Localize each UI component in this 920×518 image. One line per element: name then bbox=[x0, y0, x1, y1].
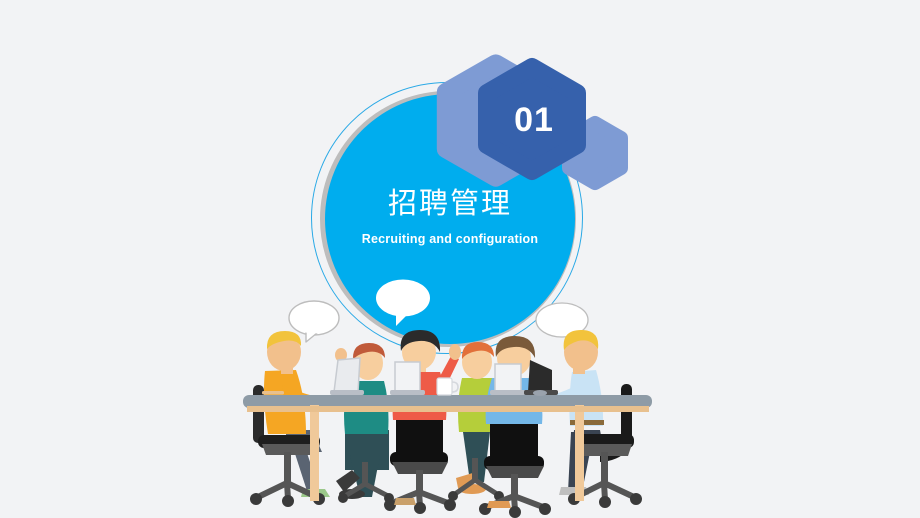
office-team-illustration bbox=[0, 0, 920, 518]
laptop-1 bbox=[330, 358, 364, 395]
table-leg-left bbox=[310, 405, 319, 501]
mouse-icon bbox=[533, 390, 547, 396]
laptop-3 bbox=[490, 364, 526, 395]
pencil-icon bbox=[262, 391, 284, 395]
coffee-cup bbox=[437, 378, 458, 395]
desk-props bbox=[262, 358, 558, 396]
person-center-red bbox=[384, 330, 461, 514]
table-apron bbox=[247, 406, 649, 412]
table-leg-right bbox=[575, 405, 584, 501]
laptop-2 bbox=[390, 362, 425, 395]
person-left bbox=[250, 331, 346, 507]
slide-canvas: 01 招聘管理 Recruiting and configuration bbox=[0, 0, 920, 518]
